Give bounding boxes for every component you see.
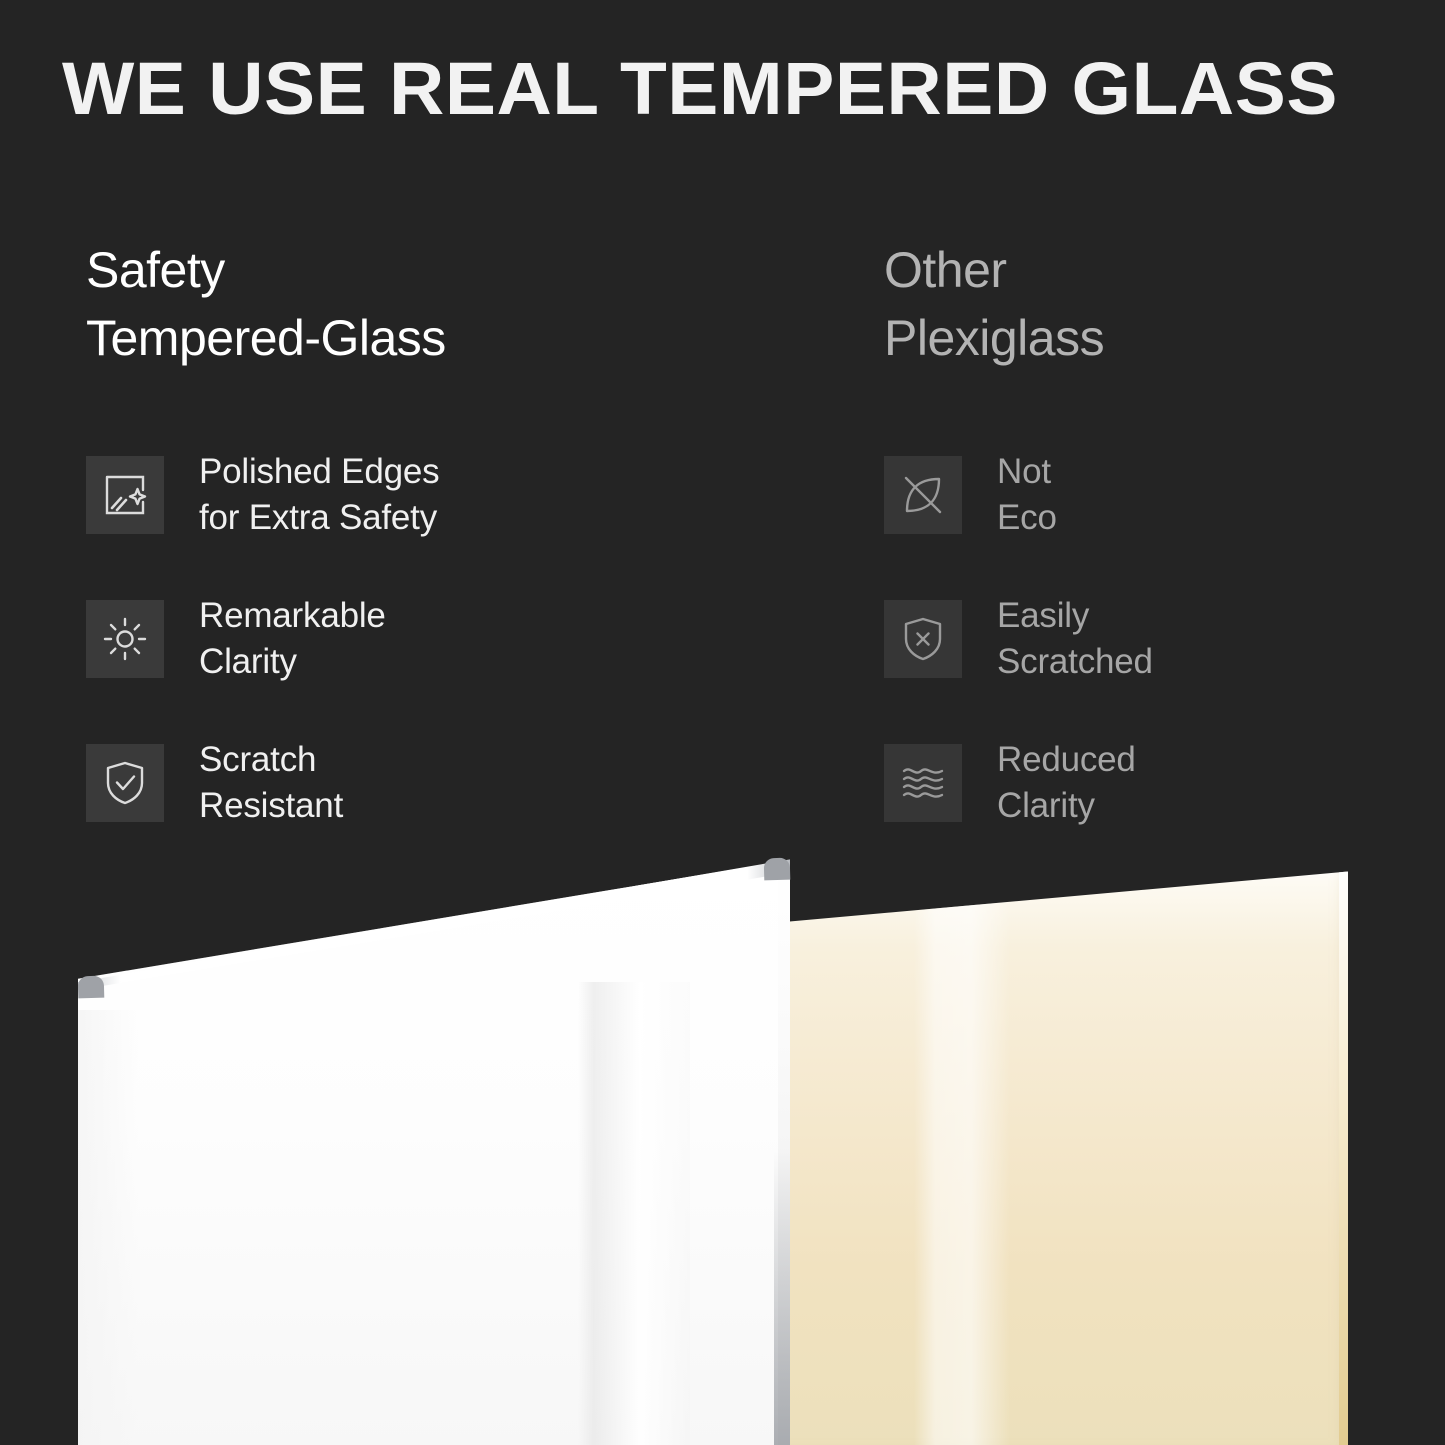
sun-brightness-icon	[86, 600, 164, 678]
column-heading-left: Safety Tempered-Glass	[86, 236, 826, 372]
feature-list-right: Not Eco Easily Scratched	[884, 452, 1404, 884]
shield-check-icon	[86, 744, 164, 822]
plexiglass-panel-cream	[766, 868, 1348, 1445]
feature-label: Not Eco	[997, 449, 1057, 541]
feature-list-left: Polished Edges for Extra Safety Remarkab…	[86, 452, 826, 884]
page-title: WE USE REAL TEMPERED GLASS	[62, 44, 1439, 134]
column-other-plexiglass: Other Plexiglass Not Eco	[884, 236, 1404, 372]
feature-item-not-eco: Not Eco	[884, 452, 1404, 538]
feature-item-remarkable-clarity: Remarkable Clarity	[86, 596, 826, 682]
polished-glass-sparkle-icon	[86, 456, 164, 534]
feature-item-reduced-clarity: Reduced Clarity	[884, 740, 1404, 826]
column-heading-right: Other Plexiglass	[884, 236, 1404, 372]
tempered-glass-panel-white	[78, 860, 790, 1445]
column-safety-tempered-glass: Safety Tempered-Glass Polished Edges for…	[86, 236, 826, 372]
white-panel-left-reflection	[78, 1010, 138, 1445]
shield-x-icon	[884, 600, 962, 678]
cream-panel-edge	[1339, 868, 1348, 1445]
feature-label: Polished Edges for Extra Safety	[199, 449, 439, 541]
feature-item-scratch-resistant: Scratch Resistant	[86, 740, 826, 826]
white-panel-reflection	[578, 982, 690, 1445]
feature-item-easily-scratched: Easily Scratched	[884, 596, 1404, 682]
cream-panel-reflection	[914, 868, 1010, 1445]
glass-panels-image	[0, 840, 1445, 1445]
feature-label: Scratch Resistant	[199, 737, 343, 829]
white-panel-edge-shadow	[774, 1148, 790, 1445]
white-panel-corner-top-left	[78, 976, 105, 999]
comparison-infographic: WE USE REAL TEMPERED GLASS Safety Temper…	[0, 0, 1445, 1445]
feature-label: Remarkable Clarity	[199, 593, 386, 685]
wavy-lines-icon	[884, 744, 962, 822]
white-panel-corner-top-right	[764, 858, 791, 881]
feature-label: Reduced Clarity	[997, 737, 1136, 829]
feature-item-polished-edges: Polished Edges for Extra Safety	[86, 452, 826, 538]
feature-label: Easily Scratched	[997, 593, 1153, 685]
leaf-crossed-out-icon	[884, 456, 962, 534]
